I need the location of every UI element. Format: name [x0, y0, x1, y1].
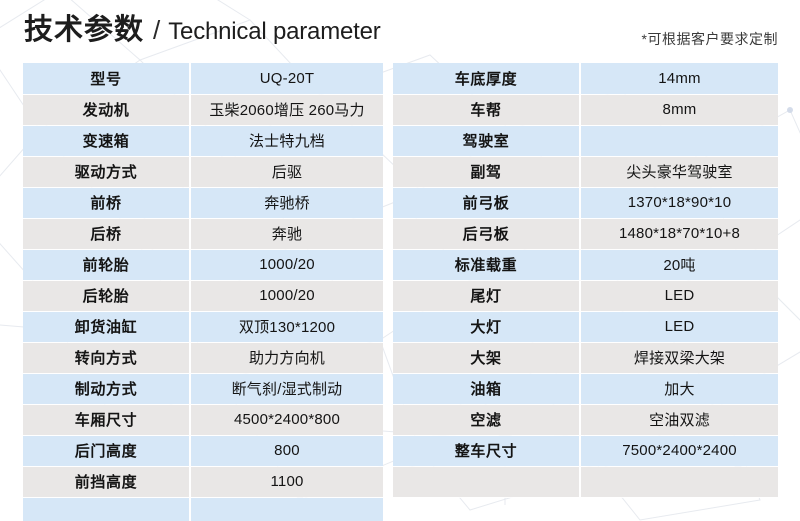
left-spec-table-body: 型号UQ-20T发动机玉柴2060增压 260马力变速箱法士特九档驱动方式后驱前…: [23, 63, 383, 521]
spec-value-cell: 助力方向机: [190, 342, 383, 373]
table-row: 前桥奔驰桥: [23, 187, 383, 218]
spec-key-cell: 空滤: [393, 404, 580, 435]
table-row: 空滤空油双滤: [393, 404, 778, 435]
spec-key-cell: 转向方式: [23, 342, 190, 373]
table-row: 大架焊接双梁大架: [393, 342, 778, 373]
spec-key-cell: 前挡高度: [23, 466, 190, 497]
spec-key-cell: 整车尺寸: [393, 435, 580, 466]
table-row: 大灯LED: [393, 311, 778, 342]
table-row: 整车尺寸7500*2400*2400: [393, 435, 778, 466]
spec-key-cell: 后桥: [23, 218, 190, 249]
table-row: 后门高度800: [23, 435, 383, 466]
spec-value-cell: 尖头豪华驾驶室: [580, 156, 778, 187]
spec-key-cell: [393, 466, 580, 497]
table-row: 尾灯LED: [393, 280, 778, 311]
spec-value-cell: 法士特九档: [190, 125, 383, 156]
spec-sheet-page: 技术参数 / Technical parameter *可根据客户要求定制 型号…: [0, 0, 800, 521]
spec-key-cell: 后弓板: [393, 218, 580, 249]
table-row: 副驾尖头豪华驾驶室: [393, 156, 778, 187]
spec-value-cell: 1000/20: [190, 280, 383, 311]
table-row: [393, 466, 778, 497]
spec-key-cell: 车底厚度: [393, 63, 580, 94]
spec-key-cell: 前轮胎: [23, 249, 190, 280]
spec-key-cell: 油箱: [393, 373, 580, 404]
spec-key-cell: 车厢尺寸: [23, 404, 190, 435]
table-row: [23, 497, 383, 521]
spec-key-cell: 后门高度: [23, 435, 190, 466]
table-row: 驱动方式后驱: [23, 156, 383, 187]
spec-value-cell: LED: [580, 280, 778, 311]
spec-value-cell: 奔驰桥: [190, 187, 383, 218]
spec-value-cell: 奔驰: [190, 218, 383, 249]
spec-value-cell: 1480*18*70*10+8: [580, 218, 778, 249]
spec-key-cell: 大灯: [393, 311, 580, 342]
spec-value-cell: [190, 497, 383, 521]
customization-note: *可根据客户要求定制: [642, 29, 778, 49]
table-row: 油箱加大: [393, 373, 778, 404]
spec-key-cell: 卸货油缸: [23, 311, 190, 342]
spec-value-cell: 空油双滤: [580, 404, 778, 435]
spec-value-cell: [580, 466, 778, 497]
right-spec-table-body: 车底厚度14mm车帮8mm驾驶室副驾尖头豪华驾驶室前弓板1370*18*90*1…: [393, 63, 778, 497]
spec-value-cell: 加大: [580, 373, 778, 404]
spec-value-cell: 20吨: [580, 249, 778, 280]
spec-key-cell: 发动机: [23, 94, 190, 125]
spec-value-cell: 断气刹/湿式制动: [190, 373, 383, 404]
spec-value-cell: 双顶130*1200: [190, 311, 383, 342]
spec-value-cell: 1100: [190, 466, 383, 497]
spec-value-cell: 焊接双梁大架: [580, 342, 778, 373]
table-row: 变速箱法士特九档: [23, 125, 383, 156]
table-row: 制动方式断气刹/湿式制动: [23, 373, 383, 404]
spec-key-cell: 副驾: [393, 156, 580, 187]
table-row: 卸货油缸双顶130*1200: [23, 311, 383, 342]
left-spec-table: 型号UQ-20T发动机玉柴2060增压 260马力变速箱法士特九档驱动方式后驱前…: [23, 63, 383, 521]
page-header: 技术参数 / Technical parameter *可根据客户要求定制: [0, 0, 800, 60]
right-spec-table: 车底厚度14mm车帮8mm驾驶室副驾尖头豪华驾驶室前弓板1370*18*90*1…: [393, 63, 778, 498]
spec-key-cell: [23, 497, 190, 521]
spec-value-cell: 7500*2400*2400: [580, 435, 778, 466]
table-row: 后桥奔驰: [23, 218, 383, 249]
table-row: 标准载重20吨: [393, 249, 778, 280]
spec-value-cell: 800: [190, 435, 383, 466]
spec-key-cell: 标准载重: [393, 249, 580, 280]
spec-value-cell: 14mm: [580, 63, 778, 94]
table-row: 前轮胎1000/20: [23, 249, 383, 280]
table-row: 型号UQ-20T: [23, 63, 383, 94]
table-row: 车帮8mm: [393, 94, 778, 125]
spec-value-cell: 4500*2400*800: [190, 404, 383, 435]
spec-key-cell: 前弓板: [393, 187, 580, 218]
spec-key-cell: 驾驶室: [393, 125, 580, 156]
table-row: 车厢尺寸4500*2400*800: [23, 404, 383, 435]
spec-value-cell: 玉柴2060增压 260马力: [190, 94, 383, 125]
spec-value-cell: 1000/20: [190, 249, 383, 280]
spec-value-cell: 后驱: [190, 156, 383, 187]
table-row: 转向方式助力方向机: [23, 342, 383, 373]
table-row: 车底厚度14mm: [393, 63, 778, 94]
spec-key-cell: 后轮胎: [23, 280, 190, 311]
spec-key-cell: 大架: [393, 342, 580, 373]
table-row: 后弓板1480*18*70*10+8: [393, 218, 778, 249]
spec-key-cell: 制动方式: [23, 373, 190, 404]
page-title: 技术参数 / Technical parameter: [24, 16, 381, 45]
table-row: 后轮胎1000/20: [23, 280, 383, 311]
spec-value-cell: 8mm: [580, 94, 778, 125]
title-separator: /: [153, 17, 160, 43]
table-row: 前挡高度1100: [23, 466, 383, 497]
spec-value-cell: UQ-20T: [190, 63, 383, 94]
spec-key-cell: 车帮: [393, 94, 580, 125]
spec-value-cell: 1370*18*90*10: [580, 187, 778, 218]
table-row: 发动机玉柴2060增压 260马力: [23, 94, 383, 125]
page-title-english: Technical parameter: [168, 20, 380, 44]
spec-key-cell: 尾灯: [393, 280, 580, 311]
table-row: 前弓板1370*18*90*10: [393, 187, 778, 218]
spec-key-cell: 前桥: [23, 187, 190, 218]
spec-key-cell: 驱动方式: [23, 156, 190, 187]
spec-value-cell: LED: [580, 311, 778, 342]
spec-key-cell: 型号: [23, 63, 190, 94]
page-title-chinese: 技术参数: [24, 16, 144, 45]
spec-value-cell: [580, 125, 778, 156]
spec-key-cell: 变速箱: [23, 125, 190, 156]
table-row: 驾驶室: [393, 125, 778, 156]
